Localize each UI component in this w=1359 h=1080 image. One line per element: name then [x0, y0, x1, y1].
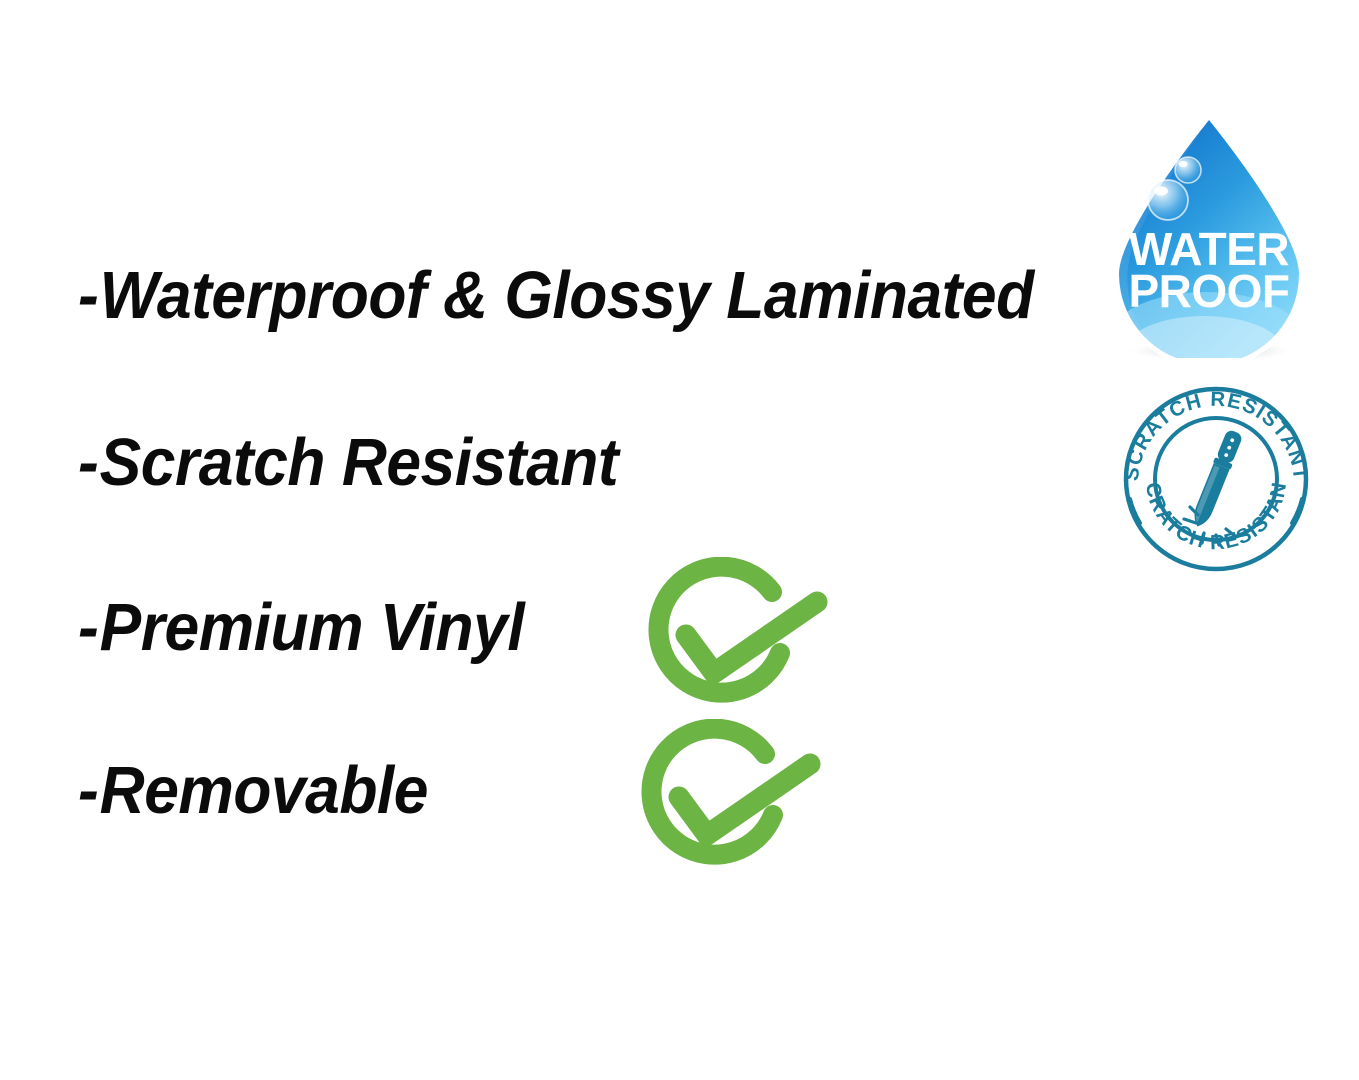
feature-item-waterproof: -Waterproof & Glossy Laminated	[78, 262, 1034, 329]
feature-label: Premium Vinyl	[100, 590, 525, 665]
scratch-resistant-badge: SCRATCH RESISTANT SCRATCH RESISTANT	[1118, 383, 1314, 573]
feature-label: Waterproof & Glossy Laminated	[100, 258, 1034, 333]
waterproof-line2: PROOF	[1128, 265, 1289, 317]
feature-item-scratch-resistant: -Scratch Resistant	[78, 429, 618, 496]
feature-list-page: -Waterproof & Glossy Laminated -Scratch …	[0, 0, 1359, 1080]
check-mark-stroke	[679, 764, 810, 835]
feature-bullet-dash: -	[78, 258, 100, 333]
feature-item-premium-vinyl: -Premium Vinyl	[78, 594, 524, 661]
check-circle-icon-2	[634, 719, 826, 879]
feature-bullet-dash: -	[78, 753, 100, 828]
waterproof-badge: WATER PROOF	[1098, 108, 1320, 358]
feature-bullet-dash: -	[78, 590, 100, 665]
check-circle-icon-1	[641, 557, 833, 717]
feature-bullet-dash: -	[78, 425, 100, 500]
feature-item-removable: -Removable	[78, 757, 428, 824]
check-mark-stroke	[686, 602, 817, 673]
feature-label: Removable	[100, 753, 428, 828]
feature-label: Scratch Resistant	[100, 425, 618, 500]
